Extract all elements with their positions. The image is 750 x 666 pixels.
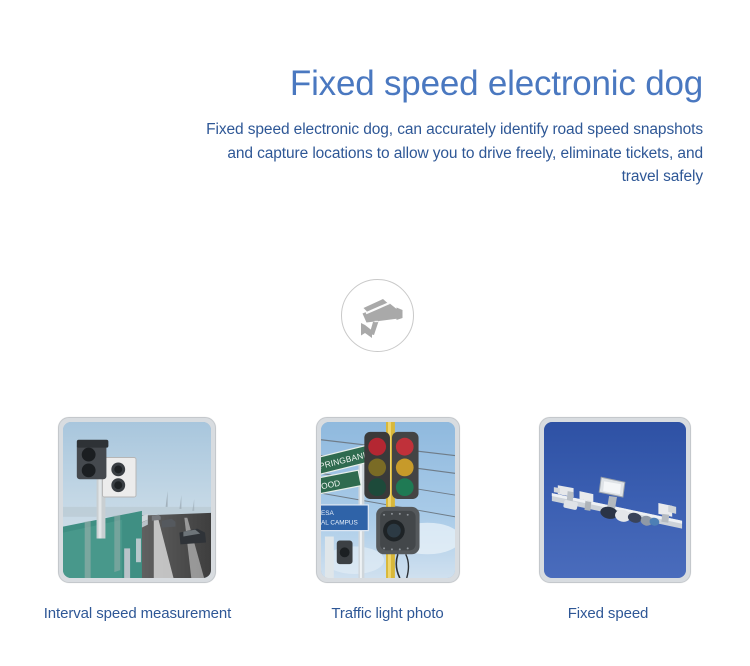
traffic-signal-photo: SPRINGBANK RD WOOD ESA AL CAMPUS [321,422,455,578]
feature-card-interval-speed[interactable] [58,417,216,583]
page-subtitle: Fixed speed electronic dog, can accurate… [140,118,703,189]
feature-card-traffic-light[interactable]: SPRINGBANK RD WOOD ESA AL CAMPUS [316,417,460,583]
page-title: Fixed speed electronic dog [140,62,703,106]
subtitle-line-1: Fixed speed electronic dog, can accurate… [140,118,703,142]
feature-caption-fixed-speed: Fixed speed [500,603,716,625]
feature-card-fixed-speed[interactable] [539,417,691,583]
feature-caption-interval-speed: Interval speed measurement [0,603,275,625]
subtitle-line-3: travel safely [140,165,703,189]
highway-speed-camera-photo [63,422,211,578]
cctv-badge [341,279,414,352]
page-root: Fixed speed electronic dog Fixed speed e… [0,0,750,666]
svg-text:AL CAMPUS: AL CAMPUS [321,520,358,527]
cctv-camera-icon [342,280,415,353]
header-block: Fixed speed electronic dog Fixed speed e… [140,62,703,189]
feature-thumbnail-row: SPRINGBANK RD WOOD ESA AL CAMPUS [0,417,750,585]
pole-mounted-cameras-photo [544,422,686,578]
subtitle-line-2: and capture locations to allow you to dr… [140,142,703,166]
svg-text:ESA: ESA [321,510,335,517]
feature-caption-traffic-light: Traffic light photo [275,603,500,625]
